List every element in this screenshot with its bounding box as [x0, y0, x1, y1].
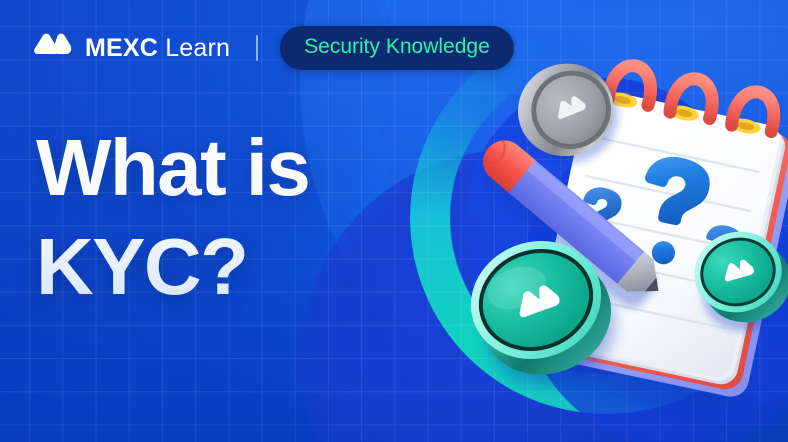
mexc-mountain-logo-icon: [30, 33, 74, 63]
page-title-line-2: KYC?: [36, 225, 309, 308]
brand-name-bold: MEXC: [85, 34, 158, 62]
page-title: What is KYC?: [36, 126, 309, 308]
brand-name: MEXC Learn: [85, 34, 230, 63]
status-badge: Security Knowledge: [280, 26, 514, 70]
page-title-line-1: What is: [36, 126, 309, 209]
banner-header: MEXC Learn Security Knowledge: [30, 26, 514, 70]
brand-name-light: Learn: [165, 34, 230, 62]
mexc-learn-banner: MEXC Learn Security Knowledge What is KY…: [0, 0, 788, 442]
header-divider: [256, 35, 258, 61]
brand-lockup: MEXC Learn: [30, 33, 230, 63]
